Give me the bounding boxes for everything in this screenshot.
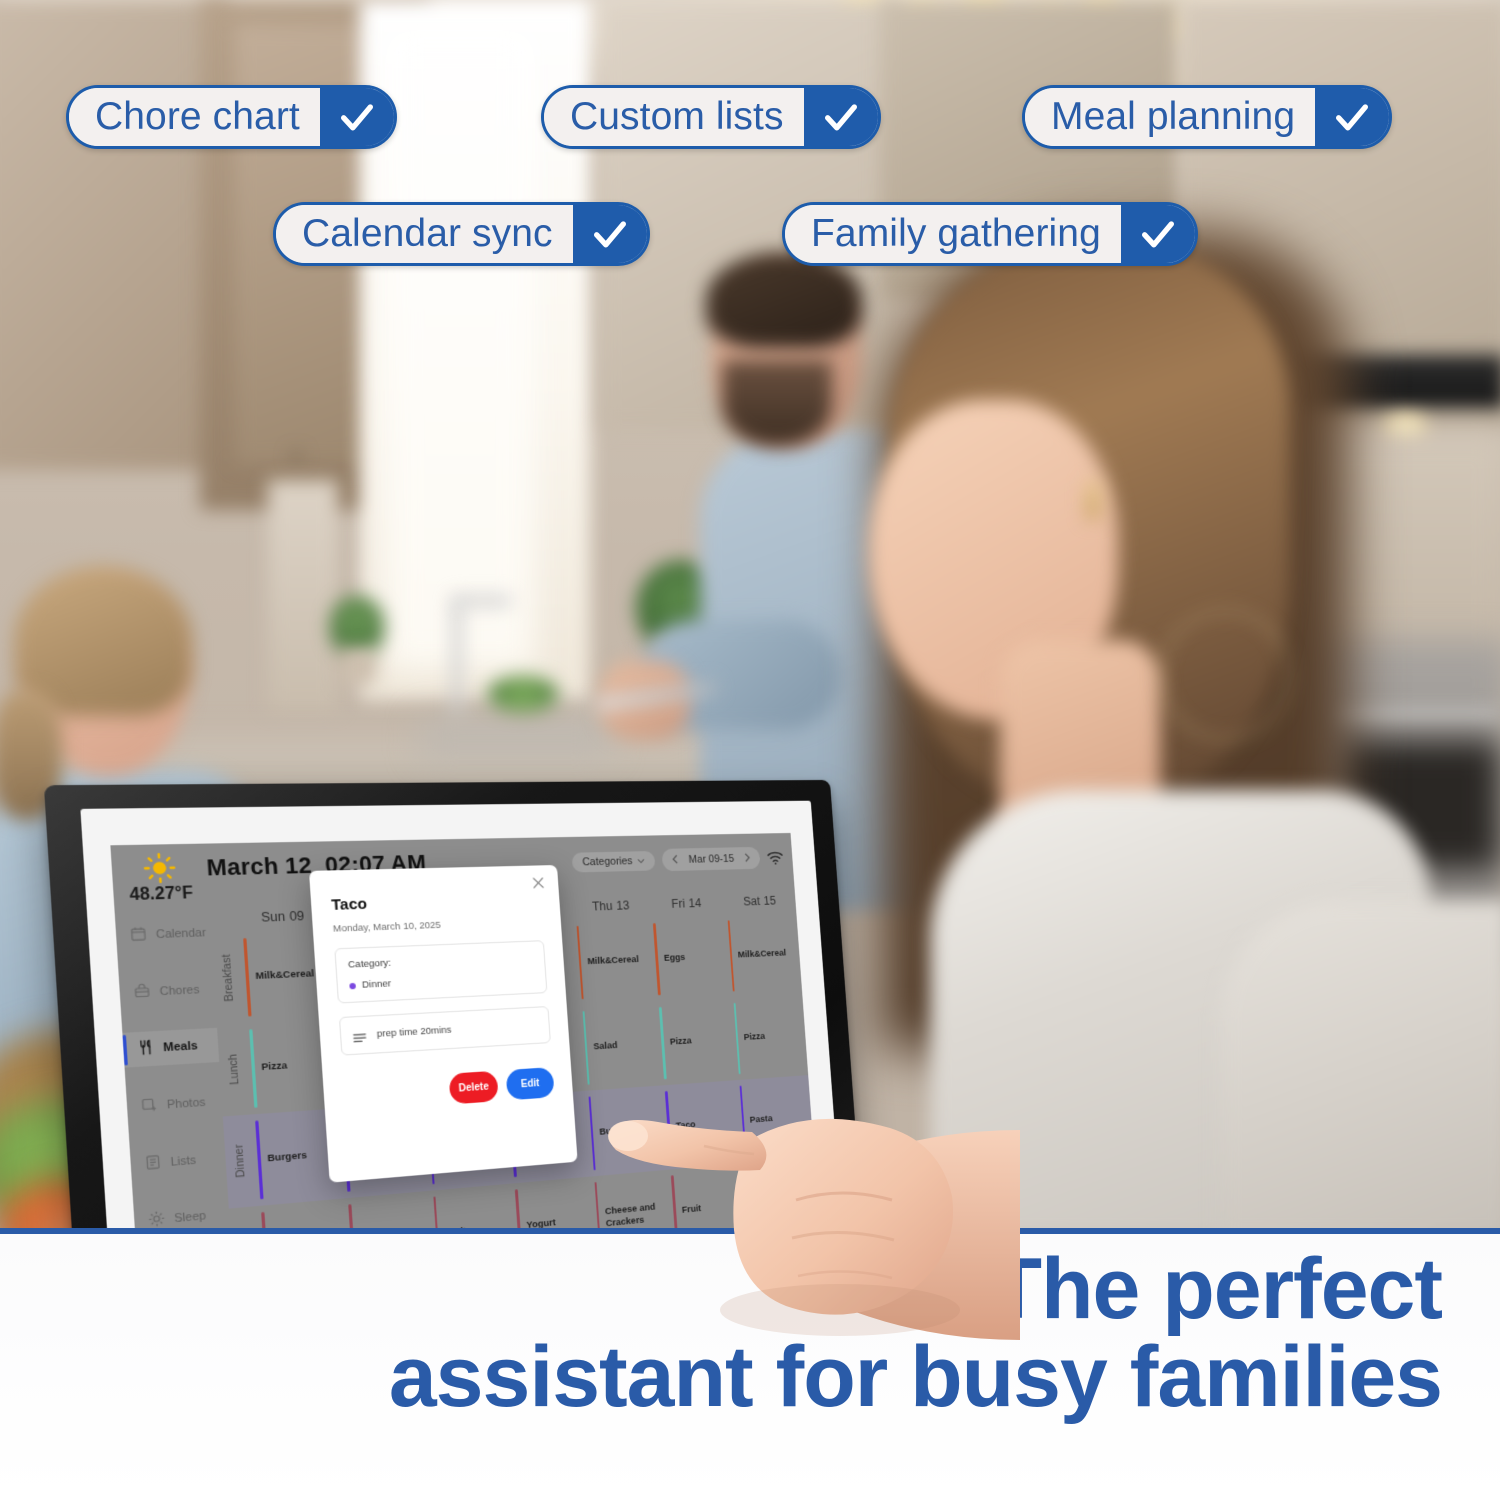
chevron-down-icon (637, 855, 645, 867)
modal-date: Monday, March 10, 2025 (333, 916, 543, 935)
oven-handle (1330, 710, 1500, 720)
day-header-thu[interactable]: Thu 13 (572, 898, 650, 914)
check-icon (573, 205, 647, 263)
delete-button[interactable]: Delete (449, 1071, 499, 1105)
meal-cell[interactable]: Eggs (650, 915, 730, 1002)
chores-icon (133, 982, 151, 1002)
meal-cell[interactable]: Pizza (656, 997, 736, 1085)
week-navigator[interactable]: Mar 09-15 (661, 847, 760, 871)
meal-accent-bar (739, 1086, 746, 1158)
check-icon (804, 88, 878, 146)
window-glare (385, 30, 535, 670)
list-icon (144, 1153, 162, 1174)
mom-shoulder (1220, 900, 1500, 1233)
upper-cabinet-left (0, 0, 230, 470)
close-icon[interactable] (532, 876, 546, 889)
meal-accent-bar (659, 1007, 666, 1079)
headline-line-2: assistant for busy families (182, 1334, 1442, 1422)
meal-cell[interactable]: Milk&Cereal (724, 912, 802, 997)
meal-accent-bar (576, 926, 584, 999)
headline-line-1: The perfect (989, 1241, 1442, 1337)
edit-button[interactable]: Edit (506, 1067, 555, 1100)
notes-value: prep time 20mins (376, 1024, 451, 1040)
sidebar-item-label: Chores (159, 983, 200, 998)
meal-cell[interactable]: Milk&Cereal (573, 917, 656, 1005)
wifi-icon (766, 850, 784, 866)
meal-cell[interactable]: Burgers (585, 1085, 668, 1176)
sidebar-item-calendar[interactable]: Calendar (115, 916, 212, 954)
meal-accent-bar (243, 938, 251, 1016)
category-value: Dinner (362, 978, 392, 991)
sidebar-item-label: Meals (163, 1040, 198, 1055)
week-range-label: Mar 09-15 (688, 853, 734, 866)
calendar-icon (129, 925, 147, 945)
dad-beard (722, 360, 832, 446)
meal-accent-bar (727, 920, 734, 991)
meal-accent-bar (255, 1120, 263, 1199)
meal-detail-modal: Taco Monday, March 10, 2025 Category: Di… (309, 865, 578, 1183)
feature-badge-label: Custom lists (544, 88, 804, 146)
window-frame (268, 480, 338, 710)
category-color-dot (349, 982, 356, 989)
feature-badge-chore-chart[interactable]: Chore chart (66, 85, 397, 149)
categories-label: Categories (582, 855, 633, 868)
feature-badge-meal-planning[interactable]: Meal planning (1022, 85, 1392, 149)
day-header-sat[interactable]: Sat 15 (723, 893, 796, 909)
category-label: Category: (348, 952, 534, 971)
check-icon (320, 88, 394, 146)
meal-accent-bar (588, 1096, 596, 1170)
check-icon (1315, 88, 1389, 146)
potted-plant (330, 596, 384, 654)
meal-accent-bar (249, 1029, 257, 1108)
mom-earring (1086, 480, 1100, 520)
sidebar-item-label: Sleep (174, 1210, 206, 1226)
topbar-controls: Categories Mar 09-15 (571, 846, 784, 873)
category-value-row: Dinner (349, 972, 535, 992)
modal-title: Taco (331, 890, 542, 914)
headline: The perfect assistant for busy families (182, 1246, 1442, 1421)
modal-actions: Delete Edit (343, 1067, 555, 1112)
category-box: Category: Dinner (334, 940, 547, 1003)
meal-cell[interactable]: Pizza (730, 994, 808, 1081)
feature-badge-custom-lists[interactable]: Custom lists (541, 85, 881, 149)
sidebar-item-label: Lists (170, 1154, 196, 1169)
feature-badge-label: Chore chart (69, 88, 320, 146)
sidebar-item-photos[interactable]: Photos (126, 1084, 223, 1125)
sidebar-item-label: Photos (167, 1096, 206, 1112)
sidebar-item-meals[interactable]: Meals (122, 1028, 219, 1068)
check-icon (1121, 205, 1195, 263)
feature-badge-label: Calendar sync (276, 205, 573, 263)
herb-plant (488, 676, 558, 712)
lines-icon (352, 1030, 366, 1041)
chevron-left-icon[interactable] (672, 852, 679, 867)
meal-cell[interactable]: Pasta (736, 1075, 814, 1163)
sidebar-item-lists[interactable]: Lists (130, 1141, 227, 1183)
faucet-spout (452, 596, 512, 606)
blue-divider (0, 1228, 1500, 1234)
feature-badge-label: Meal planning (1025, 88, 1315, 146)
feature-badge-calendar-sync[interactable]: Calendar sync (273, 202, 650, 266)
meal-accent-bar (665, 1091, 672, 1164)
sun-icon (143, 853, 176, 884)
meal-accent-bar (582, 1011, 590, 1085)
temperature-readout: 48.27°F (129, 884, 194, 905)
meal-cell[interactable]: Taco (662, 1080, 742, 1170)
sidebar-item-chores[interactable]: Chores (119, 972, 216, 1011)
categories-dropdown[interactable]: Categories (571, 851, 655, 873)
cabinet-knob (292, 452, 301, 461)
meal-accent-bar (733, 1003, 740, 1074)
chevron-right-icon[interactable] (744, 851, 750, 865)
meal-cell[interactable]: Salad (579, 1001, 662, 1091)
meal-accent-bar (653, 923, 660, 995)
faucet (452, 600, 462, 720)
feature-badge-family-gathering[interactable]: Family gathering (782, 202, 1198, 266)
mom-necklace (1160, 610, 1290, 740)
feature-badge-label: Family gathering (785, 205, 1121, 263)
photo-add-icon (140, 1096, 158, 1117)
day-header-fri[interactable]: Fri 14 (648, 896, 723, 912)
utensils-icon (137, 1039, 155, 1059)
dad-hair (706, 252, 862, 348)
sink-basin (420, 718, 610, 758)
sidebar-item-label: Calendar (156, 927, 207, 942)
notes-box: prep time 20mins (339, 1006, 551, 1056)
plant-pot (340, 650, 376, 684)
